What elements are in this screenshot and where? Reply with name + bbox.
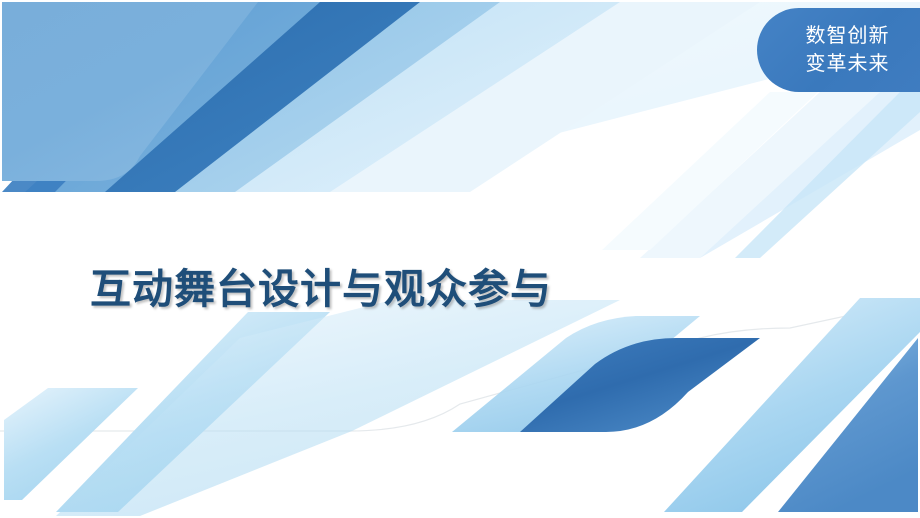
badge-line-2: 变革未来: [806, 50, 890, 78]
title-slide: 数智创新 变革未来 互动舞台设计与观众参与: [0, 0, 920, 518]
corner-badge: 数智创新 变革未来: [757, 8, 920, 92]
page-title: 互动舞台设计与观众参与: [90, 255, 552, 315]
badge-line-1: 数智创新: [806, 22, 890, 50]
